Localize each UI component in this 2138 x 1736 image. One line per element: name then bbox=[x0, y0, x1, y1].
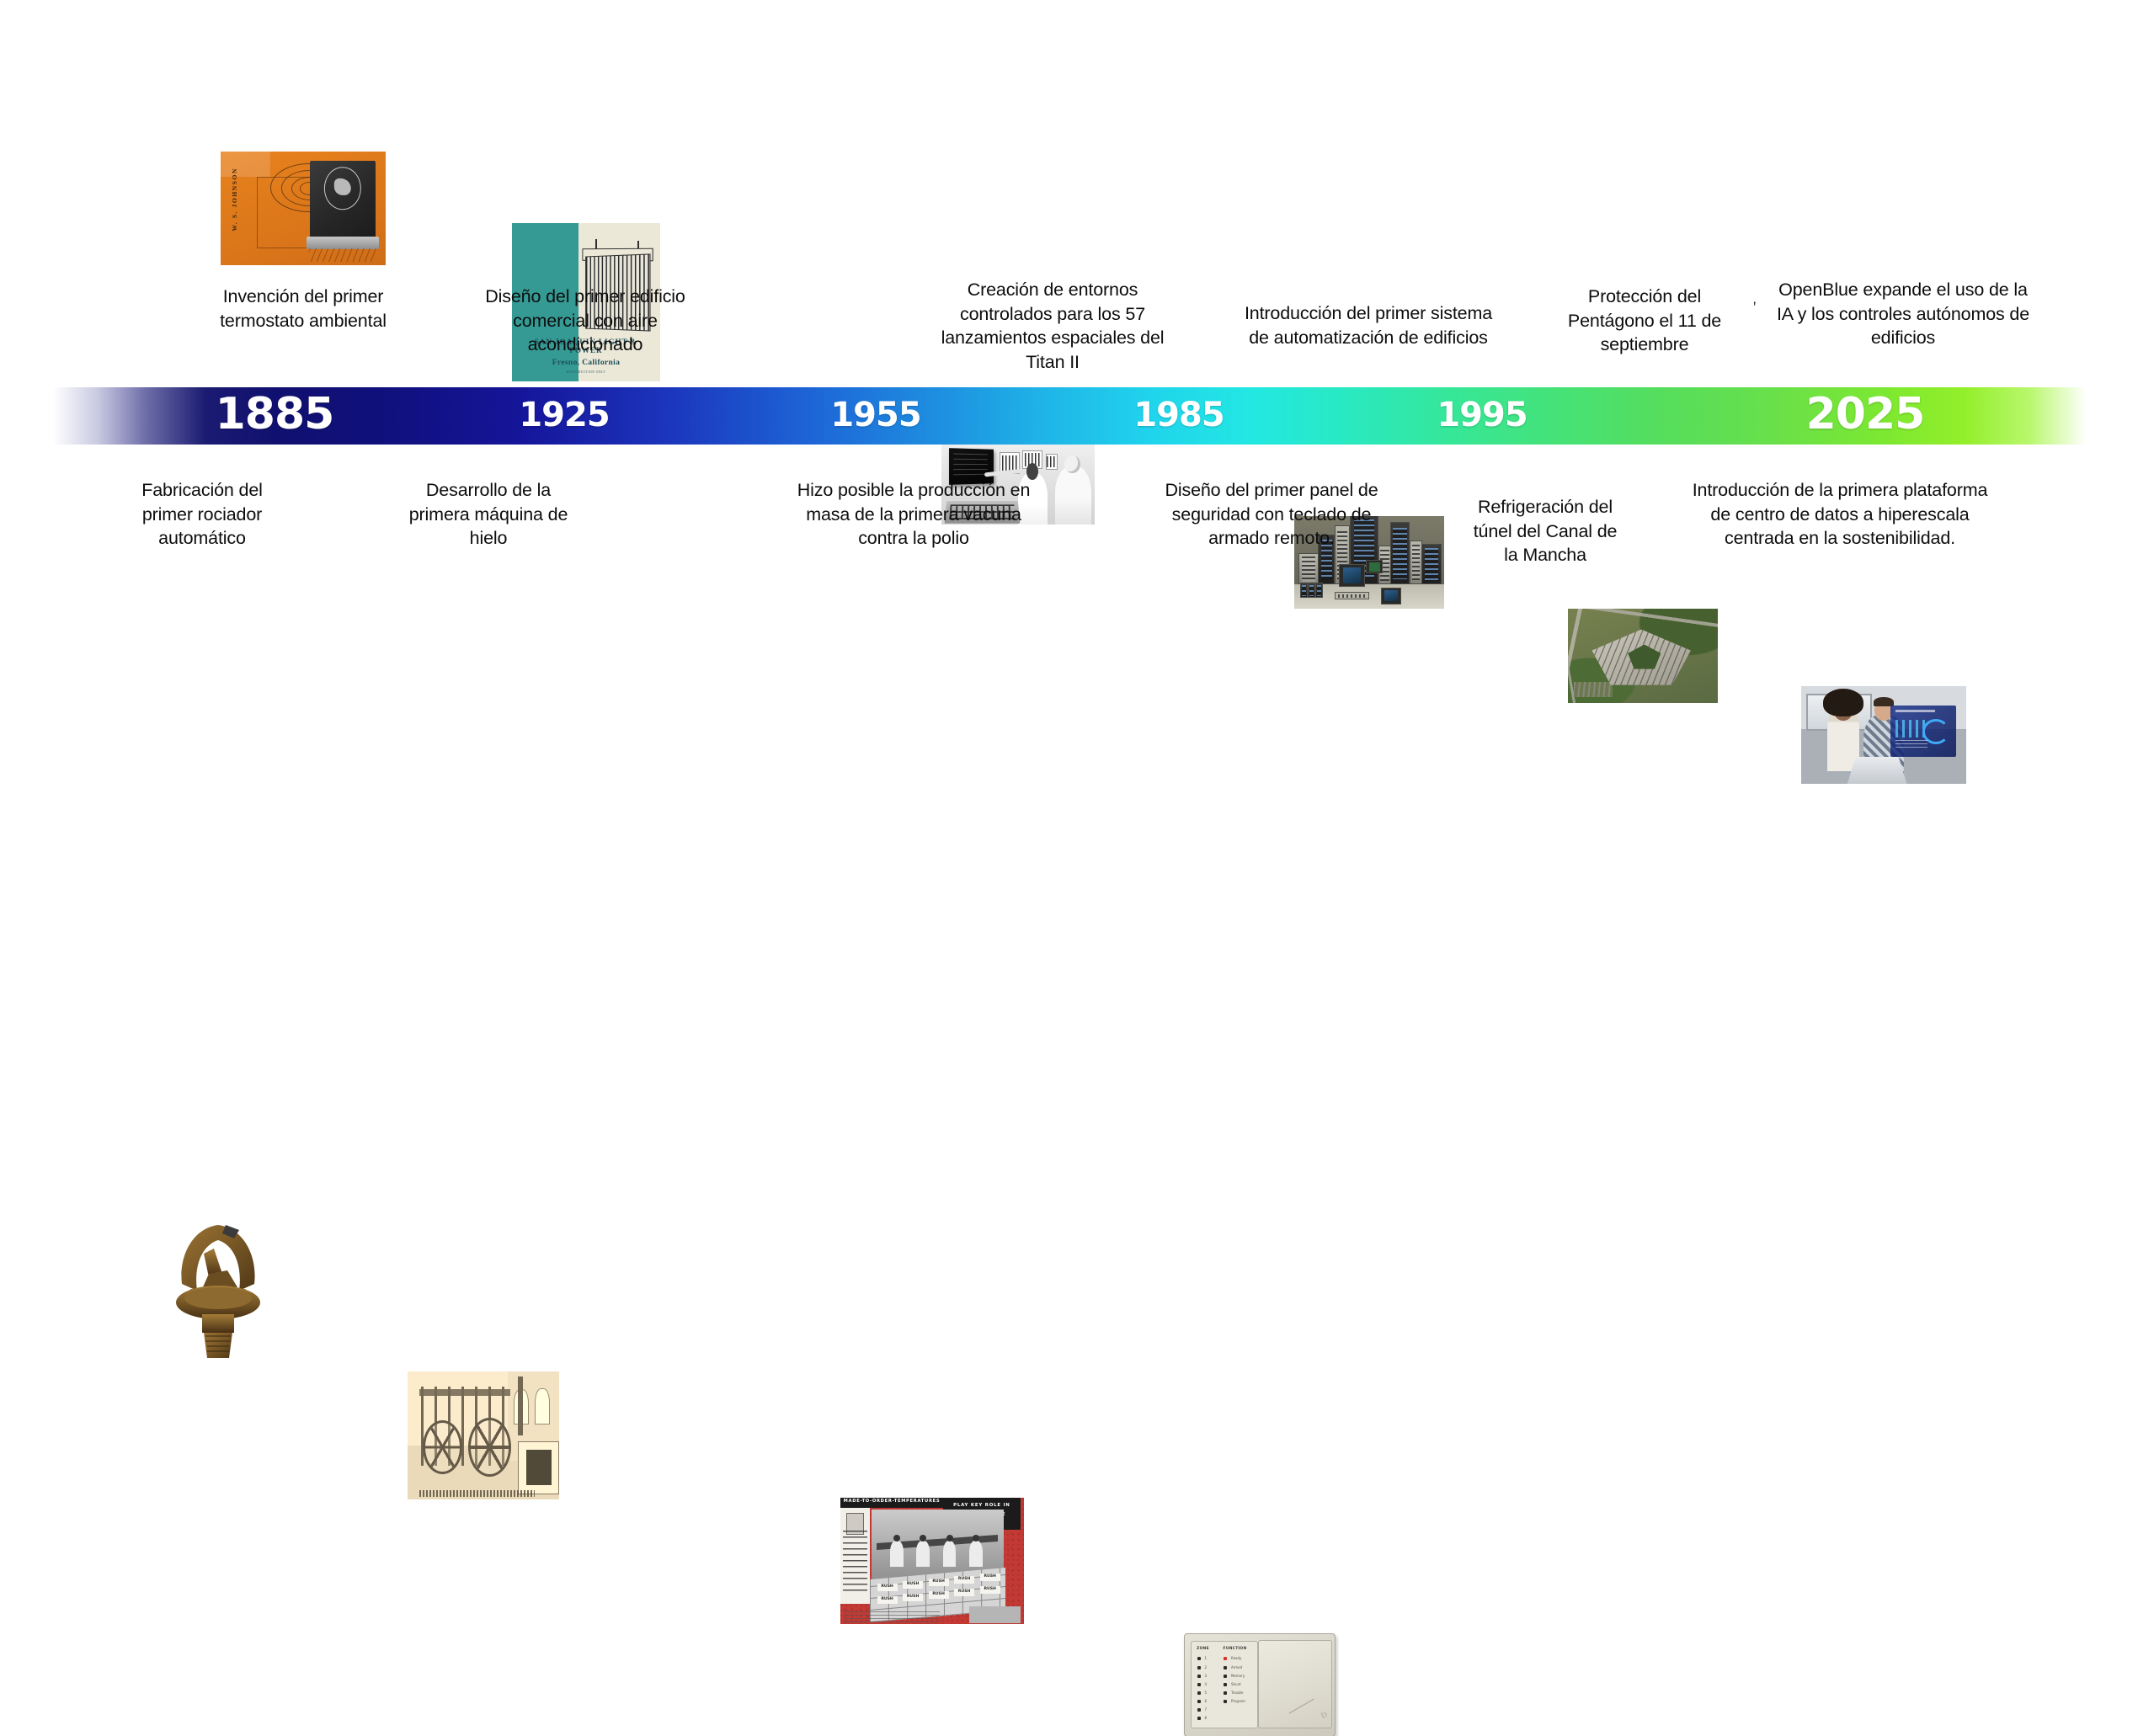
office-digital-overlay bbox=[1890, 706, 1956, 756]
polio-ad-rush-label: RUSH bbox=[877, 1596, 898, 1604]
openblue-office-image bbox=[1801, 686, 1966, 784]
security-panel-function-label: Shunt bbox=[1231, 1682, 1241, 1686]
lineup-terminal bbox=[1366, 560, 1383, 573]
security-panel-zone-header: ZONE bbox=[1197, 1647, 1209, 1651]
security-panel-zone-label: 1 bbox=[1205, 1656, 1208, 1660]
bottom-caption-1: Fabricación del primer rociador automáti… bbox=[93, 478, 312, 551]
year-label-1885: 1885 bbox=[182, 389, 367, 439]
ice-machine-engraving-image bbox=[408, 1371, 559, 1499]
security-panel-zone-label: 6 bbox=[1205, 1699, 1208, 1703]
top-caption-6: OpenBlue expande el uso de la IA y los c… bbox=[1760, 278, 2046, 350]
year-label-1985: 1985 bbox=[1095, 396, 1263, 434]
top-caption-3: Creación de entornos controlados para lo… bbox=[909, 278, 1196, 374]
security-panel-function-header: FUNCTION bbox=[1224, 1647, 1247, 1651]
patent-device-base bbox=[307, 237, 379, 249]
security-panel-function-label: Ready bbox=[1231, 1656, 1241, 1660]
year-label-1925: 1925 bbox=[480, 396, 648, 434]
ice-machine-flywheel-b bbox=[468, 1418, 511, 1477]
security-panel-zone-label: 3 bbox=[1205, 1674, 1208, 1678]
caption-separator-mark: ' bbox=[1753, 299, 1756, 317]
top-caption-2: Diseño del primer edificio comercial con… bbox=[459, 285, 712, 357]
patent-device-photo bbox=[310, 161, 376, 238]
security-panel-door: D bbox=[1258, 1640, 1332, 1728]
year-label-1995: 1995 bbox=[1398, 396, 1566, 434]
polio-ad-header-text: MADE-TO-ORDER-TEMPERATURES bbox=[844, 1499, 941, 1504]
sprinkler-head-image bbox=[150, 1218, 286, 1363]
polio-ad-rush-label: RUSH bbox=[877, 1584, 898, 1591]
bottom-caption-3: Hizo posible la producción en masa de la… bbox=[766, 478, 1061, 551]
security-panel-body: ZONE FUNCTION 1 2 3 4 5 6 7 8 Ready bbox=[1184, 1633, 1336, 1736]
security-panel-zone-label: 2 bbox=[1205, 1665, 1208, 1669]
lineup-keyboard bbox=[1335, 592, 1369, 599]
security-panel-zone-label: 4 bbox=[1205, 1682, 1208, 1686]
polio-ad-rush-label: RUSH bbox=[929, 1579, 949, 1586]
patent-vertical-text: W. S. JOHNSON bbox=[229, 168, 241, 232]
sprinkler-svg bbox=[150, 1218, 286, 1363]
polio-ad-rush-label: RUSH bbox=[929, 1591, 949, 1599]
security-panel-logo: D bbox=[1320, 1711, 1330, 1721]
polio-ad-rush-label: RUSH bbox=[903, 1581, 923, 1589]
top-caption-1: Invención del primer termostato ambienta… bbox=[168, 285, 438, 333]
bottom-caption-2: Desarrollo de la primera máquina de hiel… bbox=[383, 478, 594, 551]
top-caption-4: Introducción del primer sistema de autom… bbox=[1225, 301, 1512, 349]
security-keypad-panel-image: ZONE FUNCTION 1 2 3 4 5 6 7 8 Ready bbox=[1179, 1626, 1339, 1736]
top-caption-5: Protección del Pentágono el 11 de septie… bbox=[1548, 285, 1741, 357]
lineup-monitor bbox=[1339, 564, 1364, 586]
patent-signature bbox=[307, 248, 379, 262]
security-panel-led-area: ZONE FUNCTION 1 2 3 4 5 6 7 8 Ready bbox=[1191, 1641, 1259, 1728]
security-panel-function-label: Memory bbox=[1231, 1674, 1245, 1678]
polio-ad-rush-label: RUSH bbox=[903, 1594, 923, 1601]
lineup-monitor-2 bbox=[1381, 588, 1400, 604]
year-label-1955: 1955 bbox=[792, 396, 960, 434]
polio-ad-rush-label: RUSH bbox=[954, 1589, 974, 1596]
polio-vaccine-ad-image: MADE-TO-ORDER-TEMPERATURES PLAY KEY ROLE… bbox=[840, 1498, 1024, 1624]
thermostat-patent-image: W. S. JOHNSON bbox=[221, 152, 386, 265]
security-panel-function-label: Program bbox=[1231, 1699, 1245, 1703]
security-panel-function-label: Trouble bbox=[1231, 1691, 1244, 1695]
security-panel-zone-label: 8 bbox=[1205, 1716, 1208, 1720]
office-person-standing bbox=[1827, 703, 1858, 771]
brochure-title-line3: REPRODUCTION ONLY bbox=[518, 370, 654, 374]
ice-machine-flywheel-a bbox=[423, 1420, 462, 1474]
pentagon-aerial-image bbox=[1568, 609, 1718, 703]
timeline-infographic: W. S. JOHNSON SAN JOAQUIN LIGHT & POWER … bbox=[0, 0, 2138, 868]
ice-machine-caption-strip bbox=[419, 1490, 535, 1497]
year-label-2025: 2025 bbox=[1768, 389, 1962, 439]
polio-ad-rush-label: RUSH bbox=[980, 1574, 1000, 1581]
polio-ad-header-bar: MADE-TO-ORDER-TEMPERATURES bbox=[840, 1498, 943, 1508]
security-panel-function-label: Armed bbox=[1231, 1665, 1242, 1669]
bottom-caption-4: Diseño del primer panel de seguridad con… bbox=[1141, 478, 1402, 551]
polio-ad-rush-label: RUSH bbox=[954, 1576, 974, 1584]
polio-ad-rush-label: RUSH bbox=[980, 1586, 1000, 1594]
security-panel-zone-label: 5 bbox=[1205, 1691, 1208, 1695]
control-room-chart-c bbox=[1046, 454, 1058, 470]
bottom-caption-5: Refrigeración del túnel del Canal de la … bbox=[1448, 495, 1642, 567]
office-laptop bbox=[1847, 757, 1907, 784]
bottom-caption-6: Introducción de la primera plataforma de… bbox=[1663, 478, 2017, 551]
brochure-title-line2: Fresno, California bbox=[518, 358, 654, 367]
security-panel-zone-label: 7 bbox=[1205, 1707, 1208, 1712]
